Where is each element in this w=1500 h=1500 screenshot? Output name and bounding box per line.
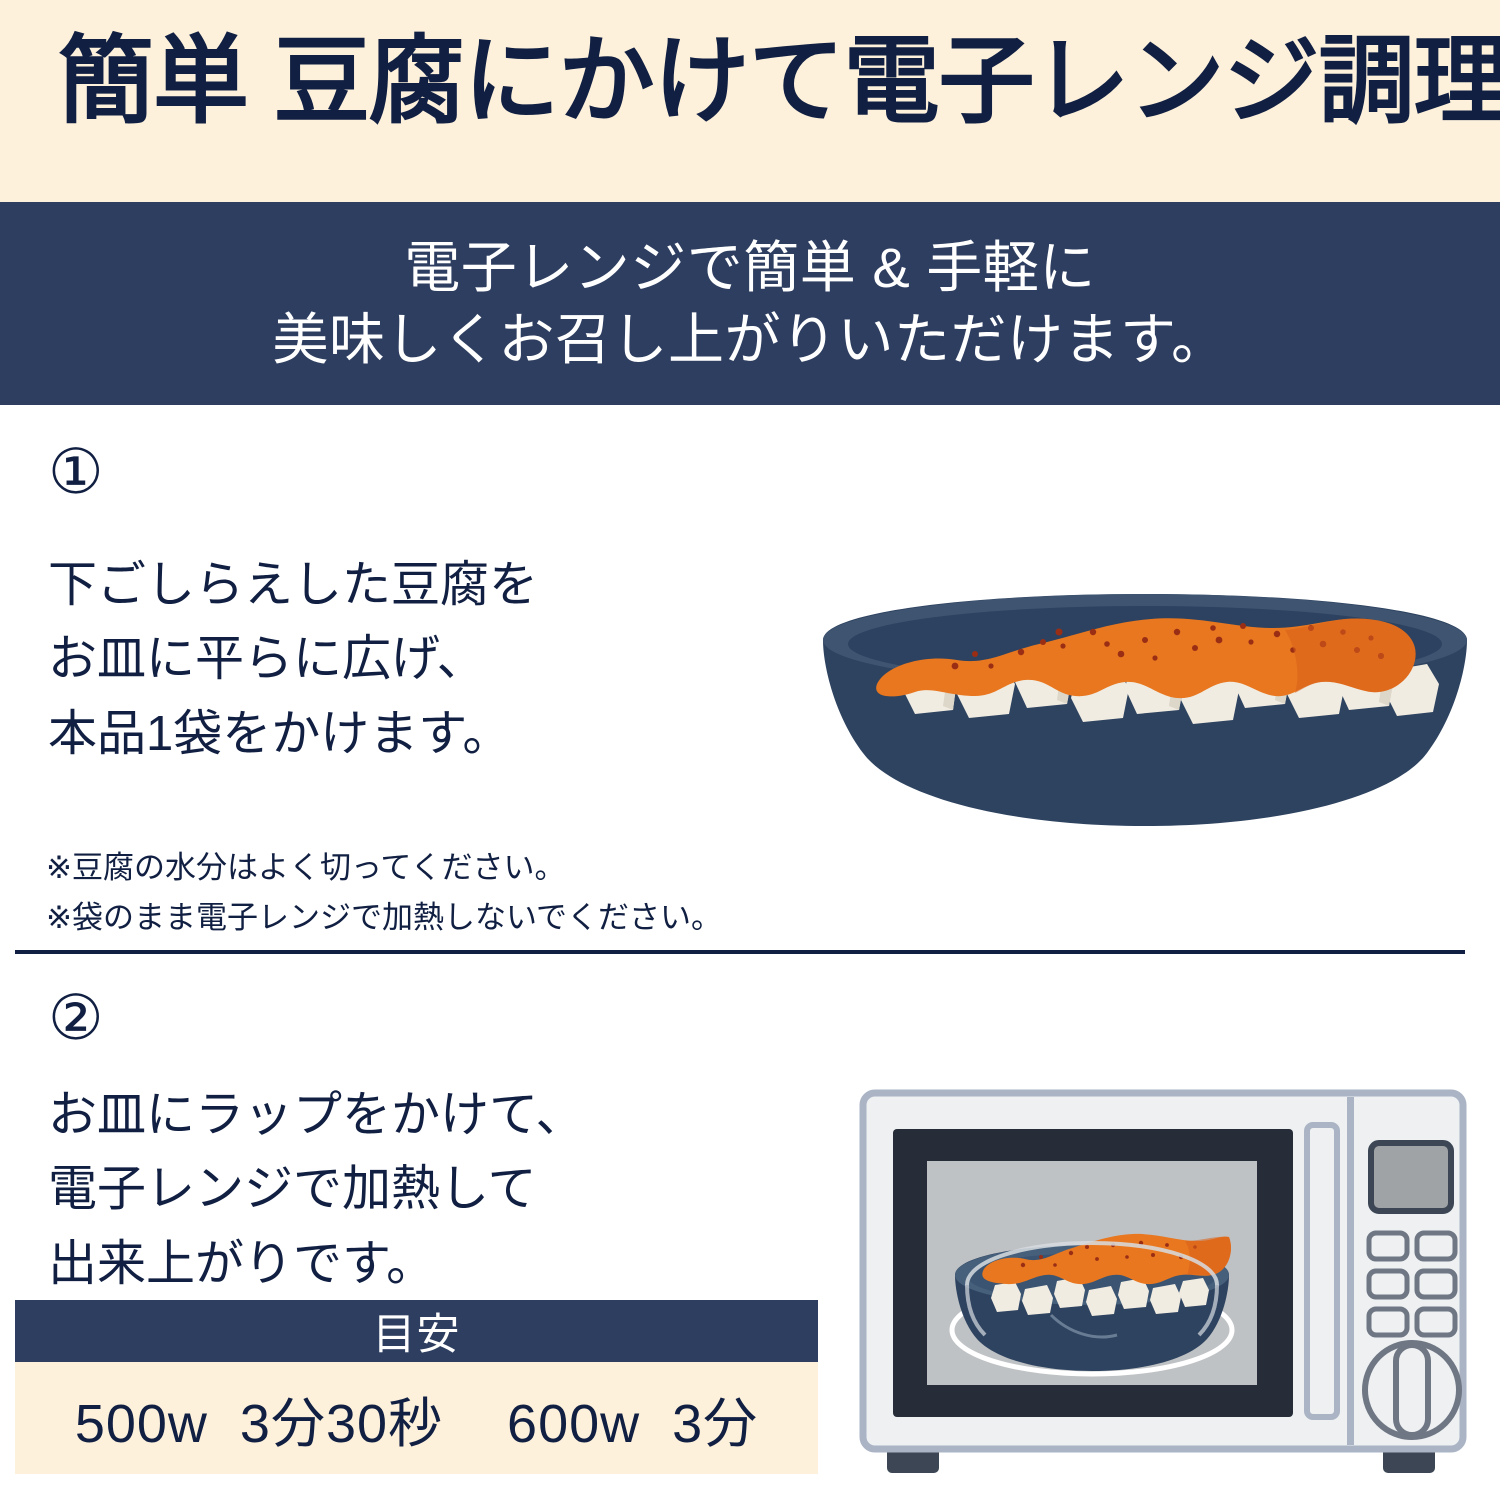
microwave-button-1 [1369, 1233, 1407, 1259]
subtitle-banner: 電子レンジで簡単 & 手軽に 美味しくお召し上がりいただけます。 [0, 202, 1500, 405]
microwave-button-5 [1369, 1309, 1407, 1335]
step-1-number: ① [48, 442, 104, 504]
step-2-number: ② [48, 988, 104, 1050]
guide-table-header: 目安 [15, 1300, 818, 1362]
step-1-text: 下ごしらえした豆腐を お皿に平らに広げ、 本品1袋をかけます。 [48, 548, 538, 771]
microwave-dial [1365, 1343, 1459, 1437]
infographic-page: 簡単 豆腐にかけて電子レンジ調理 電子レンジで簡単 & 手軽に 美味しくお召し上… [0, 0, 1500, 1500]
microwave-display [1371, 1143, 1451, 1211]
subtitle-line-2: 美味しくお召し上がりいただけます。 [273, 304, 1228, 376]
microwave-illustration [855, 1085, 1485, 1485]
guide-table: 目安 500w 3分30秒 600w 3分 [15, 1300, 818, 1474]
step-1-notes: ※豆腐の水分はよく切ってください。 ※袋のまま電子レンジで加熱しないでください。 [46, 843, 722, 943]
page-title: 簡単 豆腐にかけて電子レンジ調理 [58, 32, 1500, 133]
microwave-door-handle [1307, 1125, 1337, 1417]
microwave-button-4 [1417, 1271, 1455, 1297]
tofu-bowl-illustration [815, 588, 1475, 838]
sauce-shadow [1285, 619, 1416, 693]
guide-table-row: 500w 3分30秒 600w 3分 [15, 1362, 818, 1474]
step-2-text: お皿にラップをかけて、 電子レンジで加熱して 出来上がりです。 [48, 1078, 585, 1301]
subtitle-line-1: 電子レンジで簡単 & 手軽に [404, 232, 1095, 304]
title-band: 簡単 豆腐にかけて電子レンジ調理 [0, 0, 1500, 202]
panel-divider [1347, 1097, 1354, 1445]
microwave-button-6 [1417, 1309, 1455, 1335]
microwave-button-3 [1369, 1271, 1407, 1297]
microwave-button-2 [1417, 1233, 1455, 1259]
microwave-bowl [955, 1234, 1231, 1371]
section-divider [15, 950, 1465, 954]
